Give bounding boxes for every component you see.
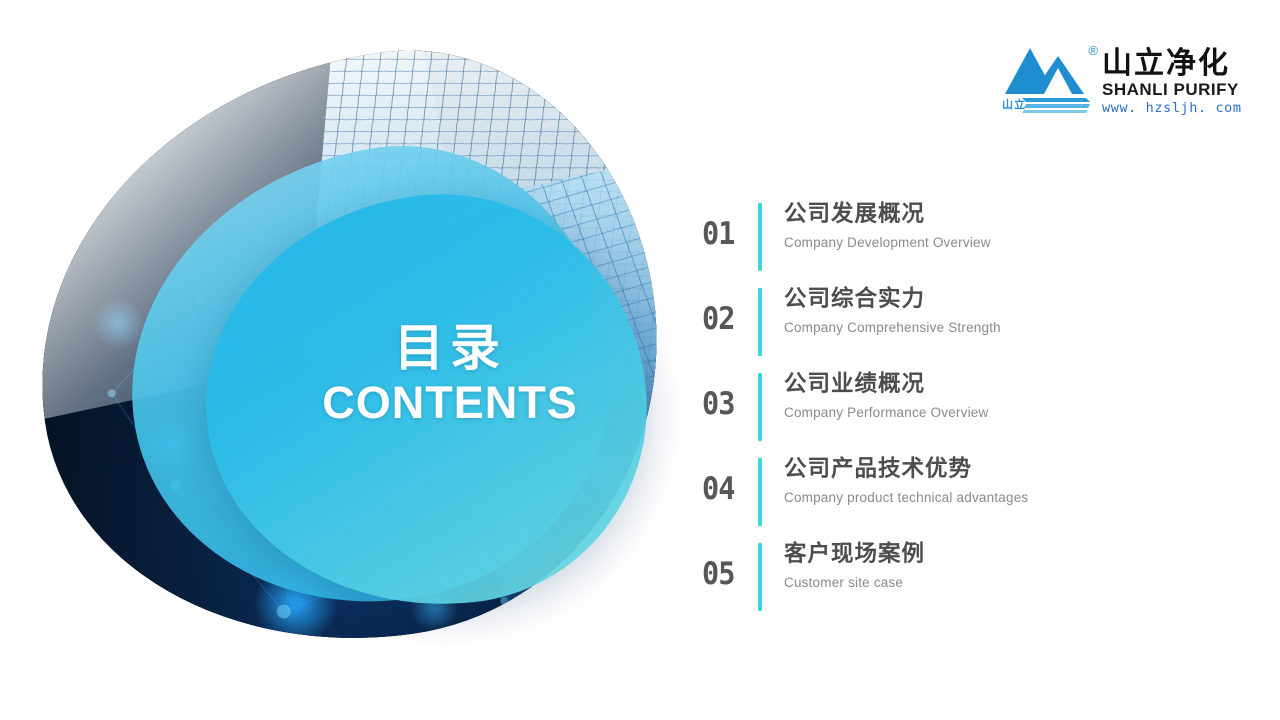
list-item[interactable]: 05 客户现场案例 Customer site case (702, 536, 1242, 621)
list-item-text: 公司发展概况 Company Development Overview (784, 196, 1242, 251)
list-item-title-en: Customer site case (784, 575, 1242, 591)
company-logo: ® 山立 山立净化 SHANLI PURIFY www. hzsljh. com (1000, 42, 1242, 116)
list-item[interactable]: 04 公司产品技术优势 Company product technical ad… (702, 451, 1242, 536)
list-item-accent-bar (758, 458, 762, 526)
brand-website: www. hzsljh. com (1102, 100, 1242, 116)
contents-list: 01 公司发展概况 Company Development Overview 0… (702, 196, 1242, 621)
list-item-number: 01 (702, 196, 754, 252)
list-item-number: 04 (702, 451, 754, 507)
shanli-mountain-logo-icon: ® 山立 (1000, 42, 1092, 114)
list-item-accent-bar (758, 373, 762, 441)
list-item-title-en: Company product technical advantages (784, 490, 1242, 506)
list-item-number: 03 (702, 366, 754, 422)
list-item-title-cn: 公司产品技术优势 (784, 455, 1242, 483)
list-item-text: 公司综合实力 Company Comprehensive Strength (784, 281, 1242, 336)
brand-name-cn: 山立净化 (1102, 48, 1242, 80)
list-item-title-en: Company Performance Overview (784, 405, 1242, 421)
list-item-text: 公司产品技术优势 Company product technical advan… (784, 451, 1242, 506)
list-item-title-en: Company Development Overview (784, 235, 1242, 251)
list-item-number: 05 (702, 536, 754, 592)
list-item-title-en: Company Comprehensive Strength (784, 320, 1242, 336)
list-item-title-cn: 公司综合实力 (784, 285, 1242, 313)
list-item-text: 公司业绩概况 Company Performance Overview (784, 366, 1242, 421)
brand-name-en: SHANLI PURIFY (1102, 81, 1242, 100)
list-item-text: 客户现场案例 Customer site case (784, 536, 1242, 591)
list-item-accent-bar (758, 288, 762, 356)
list-item-number: 02 (702, 281, 754, 337)
contents-artwork (38, 60, 658, 640)
registered-trademark-icon: ® (1088, 44, 1098, 57)
list-item[interactable]: 02 公司综合实力 Company Comprehensive Strength (702, 281, 1242, 366)
list-item[interactable]: 03 公司业绩概况 Company Performance Overview (702, 366, 1242, 451)
list-item-accent-bar (758, 543, 762, 611)
list-item-title-cn: 公司业绩概况 (784, 370, 1242, 398)
list-item-title-cn: 客户现场案例 (784, 540, 1242, 568)
logo-sub-mark-text: 山立 (1002, 96, 1026, 112)
slide-canvas: ® 山立 山立净化 SHANLI PURIFY www. hzsljh. com (0, 0, 1280, 720)
list-item-title-cn: 公司发展概况 (784, 200, 1242, 228)
list-item-accent-bar (758, 203, 762, 271)
list-item[interactable]: 01 公司发展概况 Company Development Overview (702, 196, 1242, 281)
logo-wordmark: 山立净化 SHANLI PURIFY www. hzsljh. com (1102, 42, 1242, 116)
